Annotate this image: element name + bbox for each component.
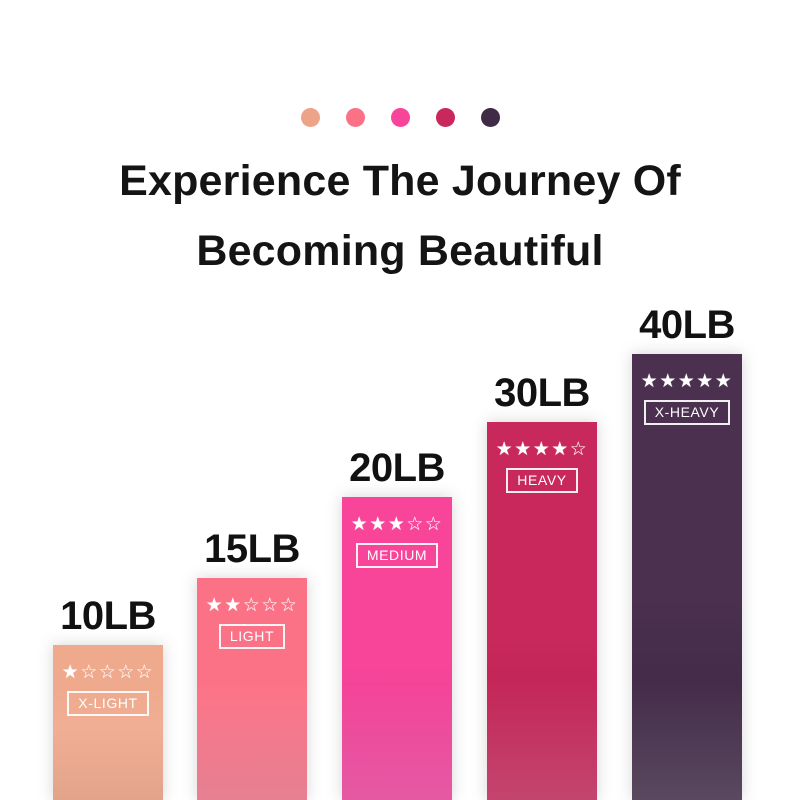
bar-content: ★★☆☆☆LIGHT (197, 596, 307, 649)
bar-content: ★★★★★X-HEAVY (632, 372, 742, 425)
bar-value-label: 30LB (494, 371, 590, 416)
bar-fill: ★★★☆☆MEDIUM (342, 497, 452, 800)
bar-content: ★★★☆☆MEDIUM (342, 515, 452, 568)
bar-column: ★★☆☆☆LIGHT (197, 578, 307, 800)
bar-fill: ★★★★★X-HEAVY (632, 354, 742, 800)
bar-group-heavy[interactable]: 30LB★★★★☆HEAVY (487, 422, 597, 800)
star-rating-icon: ★★★☆☆ (351, 515, 444, 534)
resistance-level-badge: MEDIUM (356, 543, 438, 568)
bar-value-label: 40LB (639, 303, 735, 348)
star-rating-icon: ★★☆☆☆ (206, 596, 299, 615)
resistance-bar-chart: 10LB★☆☆☆☆X-LIGHT15LB★★☆☆☆LIGHT20LB★★★☆☆M… (0, 0, 800, 800)
bar-value-label: 15LB (204, 527, 300, 572)
bar-fill: ★★★★☆HEAVY (487, 422, 597, 800)
star-rating-icon: ★☆☆☆☆ (62, 663, 155, 682)
resistance-level-badge: X-LIGHT (67, 691, 148, 716)
bar-content: ★☆☆☆☆X-LIGHT (53, 663, 163, 716)
bar-fill: ★☆☆☆☆X-LIGHT (53, 645, 163, 800)
bar-group-medium[interactable]: 20LB★★★☆☆MEDIUM (342, 497, 452, 800)
star-rating-icon: ★★★★★ (641, 372, 734, 391)
bar-column: ★★★★★X-HEAVY (632, 354, 742, 800)
star-rating-icon: ★★★★☆ (496, 440, 589, 459)
bar-value-label: 20LB (349, 446, 445, 491)
bar-content: ★★★★☆HEAVY (487, 440, 597, 493)
resistance-level-badge: HEAVY (506, 468, 577, 493)
bar-column: ★★★☆☆MEDIUM (342, 497, 452, 800)
bar-group-light[interactable]: 15LB★★☆☆☆LIGHT (197, 578, 307, 800)
bar-column: ★☆☆☆☆X-LIGHT (53, 645, 163, 800)
bar-value-label: 10LB (60, 594, 156, 639)
resistance-level-badge: LIGHT (219, 624, 285, 649)
bar-column: ★★★★☆HEAVY (487, 422, 597, 800)
promo-banner: Experience The Journey Of Becoming Beaut… (0, 0, 800, 800)
resistance-level-badge: X-HEAVY (644, 400, 731, 425)
bar-group-x-light[interactable]: 10LB★☆☆☆☆X-LIGHT (53, 645, 163, 800)
bar-fill: ★★☆☆☆LIGHT (197, 578, 307, 800)
bar-group-x-heavy[interactable]: 40LB★★★★★X-HEAVY (632, 354, 742, 800)
